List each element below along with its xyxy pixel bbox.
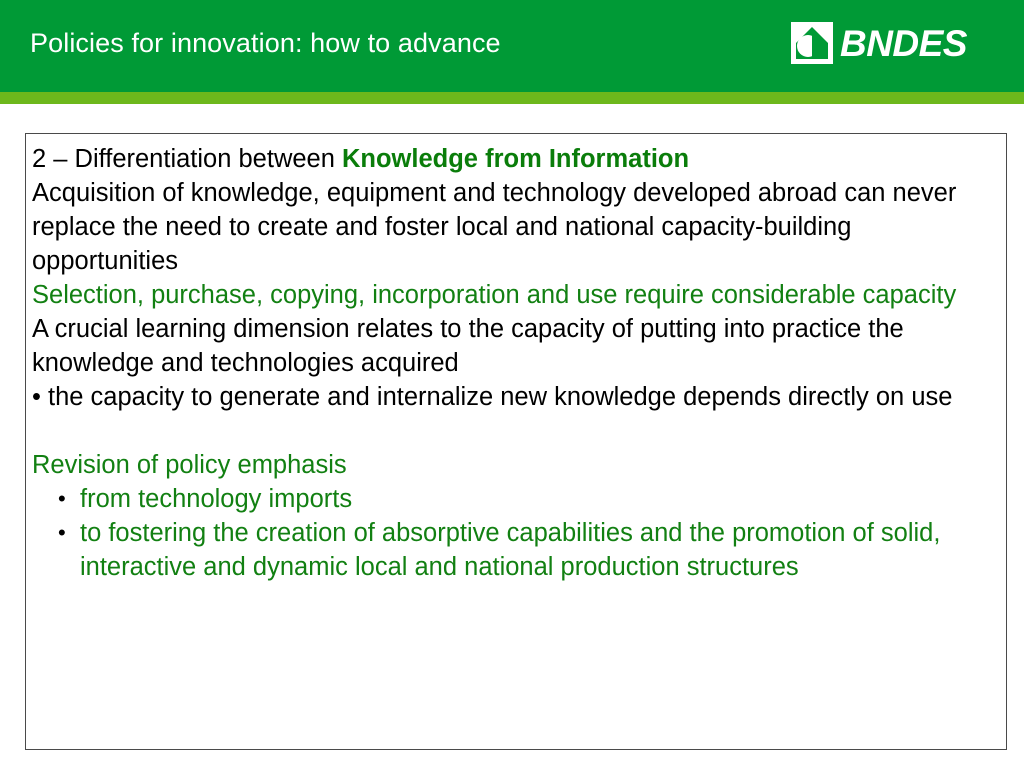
list-item-label: from technology imports: [80, 485, 352, 513]
paragraph-learning-dimension: A crucial learning dimension relates to …: [32, 312, 1000, 380]
paragraph-acquisition: Acquisition of knowledge, equipment and …: [32, 176, 1000, 278]
heading-prefix: 2 – Differentiation between: [32, 145, 342, 173]
content-heading: 2 – Differentiation between Knowledge fr…: [32, 142, 1000, 176]
list-item-label: to fostering the creation of absorptive …: [80, 519, 940, 581]
bullet-dot-icon: •: [58, 516, 66, 550]
bndes-logo-mark-icon: [791, 22, 833, 64]
list-item: • to fostering the creation of absorptiv…: [54, 516, 1000, 584]
brand-name: BNDES: [840, 25, 967, 62]
revision-title: Revision of policy emphasis: [32, 448, 1000, 482]
heading-emphasis: Knowledge from Information: [342, 145, 689, 173]
slide-content-box: 2 – Differentiation between Knowledge fr…: [25, 133, 1007, 750]
revision-bullet-list: • from technology imports • to fostering…: [32, 482, 1000, 584]
content-spacer: [32, 414, 1000, 448]
slide-header: Policies for innovation: how to advance …: [0, 0, 1024, 92]
paragraph-capacity-depends-on-use: • the capacity to generate and internali…: [32, 380, 1000, 414]
bullet-dot-icon: •: [58, 482, 66, 516]
page-title: Policies for innovation: how to advance: [30, 28, 501, 59]
brand-logo: BNDES: [791, 22, 967, 64]
list-item: • from technology imports: [54, 482, 1000, 516]
paragraph-selection: Selection, purchase, copying, incorporat…: [32, 278, 1000, 312]
header-accent-bar: [0, 92, 1024, 104]
